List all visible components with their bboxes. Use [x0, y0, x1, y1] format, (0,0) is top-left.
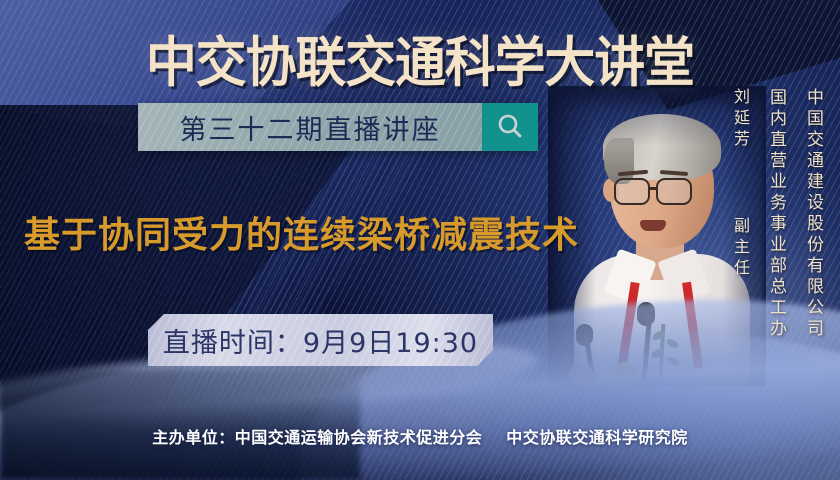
speaker-department: 国内直营业务事业部总工办: [764, 88, 789, 340]
broadcast-time-label: 直播时间：9月9日19:30: [163, 321, 478, 360]
speaker-title: 副主任: [731, 217, 750, 280]
footer-prefix: 主办单位：: [152, 428, 235, 447]
search-icon-container[interactable]: [482, 103, 538, 151]
footer-org-1: 中国交通运输协会新技术促进分会: [235, 428, 483, 447]
episode-banner[interactable]: 第三十二期直播讲座: [138, 103, 538, 151]
footer-org-2: 中交协联交通科学研究院: [506, 428, 688, 447]
speaker-name: 刘延芳: [731, 88, 750, 151]
speaker-info-block: 中国交通建设股份有限公司 国内直营业务事业部总工办 刘延芳 副主任: [728, 88, 826, 340]
episode-label: 第三十二期直播讲座: [138, 103, 482, 151]
page-title: 中交协联交通科学大讲堂: [25, 18, 815, 97]
search-icon: [495, 112, 525, 142]
speaker-organization: 中国交通建设股份有限公司: [801, 88, 826, 340]
footer-organizers: 主办单位：中国交通运输协会新技术促进分会中交协联交通科学研究院: [0, 424, 840, 448]
topic-title: 基于协同受力的连续梁桥减震技术: [24, 206, 579, 258]
speaker-name-title: 刘延芳 副主任: [728, 88, 752, 280]
broadcast-time-badge: 直播时间：9月9日19:30: [148, 314, 493, 366]
live-broadcast-poster: 中交协联交通科学大讲堂 第三十二期直播讲座 基于协同受力的连续梁桥减震技术 直播…: [0, 0, 840, 480]
